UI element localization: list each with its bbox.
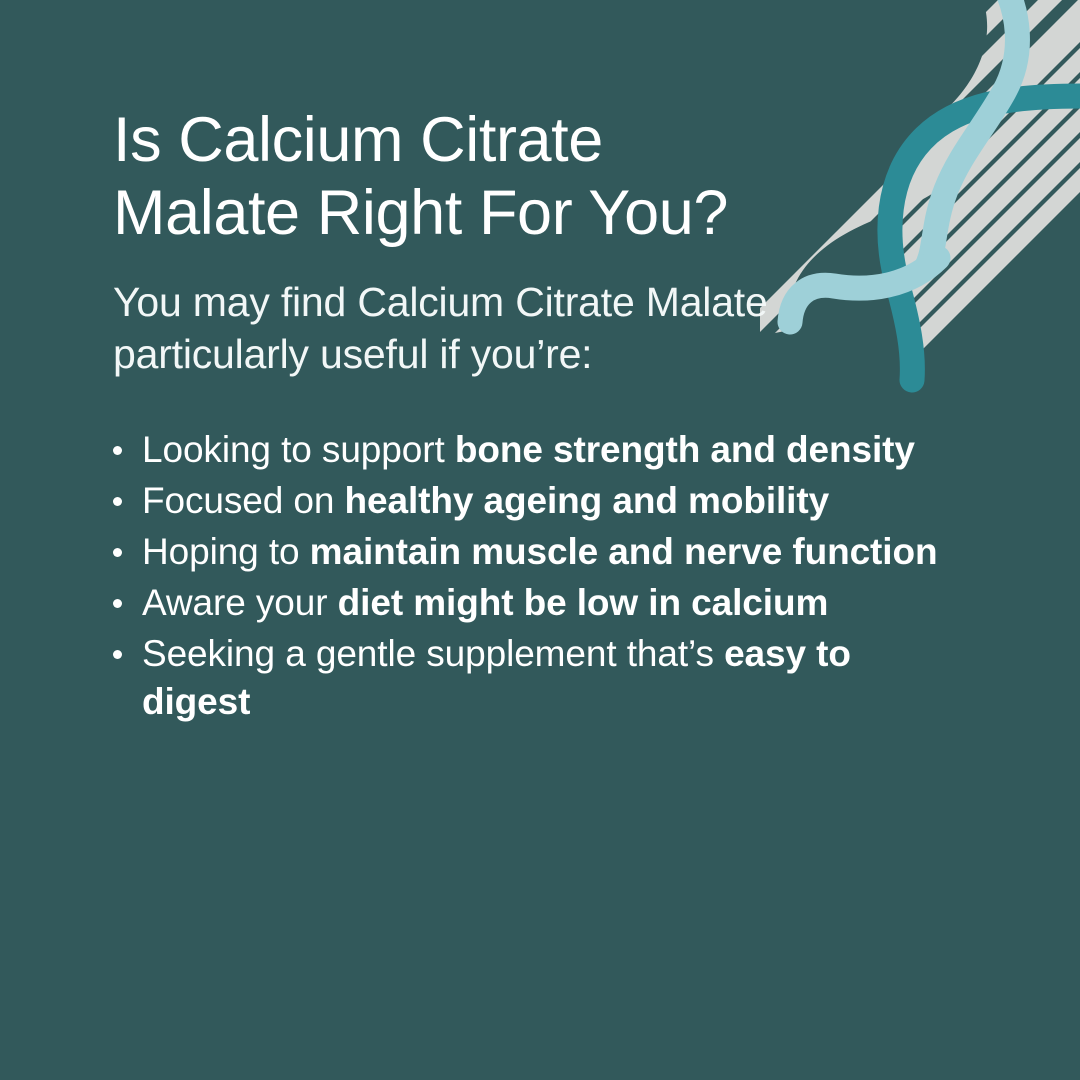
benefit-emphasis: healthy ageing and mobility: [345, 480, 830, 521]
benefit-emphasis: diet might be low in calcium: [338, 582, 829, 623]
page-title: Is Calcium Citrate Malate Right For You?: [113, 104, 753, 250]
list-item: Aware your diet might be low in calcium: [113, 579, 953, 627]
list-item: Seeking a gentle supplement that’s easy …: [113, 630, 953, 726]
bullet-icon: [113, 548, 122, 557]
bullet-icon: [113, 497, 122, 506]
benefit-lead: Focused on: [142, 480, 345, 521]
list-item: Hoping to maintain muscle and nerve func…: [113, 528, 953, 576]
list-item: Focused on healthy ageing and mobility: [113, 477, 953, 525]
content-column: Is Calcium Citrate Malate Right For You?…: [113, 104, 973, 729]
list-item: Looking to support bone strength and den…: [113, 426, 953, 474]
poster-canvas: Is Calcium Citrate Malate Right For You?…: [0, 0, 1080, 1080]
bullet-icon: [113, 650, 122, 659]
benefit-lead: Aware your: [142, 582, 338, 623]
benefit-lead: Seeking a gentle supplement that’s: [142, 633, 724, 674]
benefit-lead: Hoping to: [142, 531, 310, 572]
benefits-list: Looking to support bone strength and den…: [113, 426, 953, 726]
benefit-emphasis: maintain muscle and nerve function: [310, 531, 938, 572]
benefit-lead: Looking to support: [142, 429, 455, 470]
benefit-emphasis: bone strength and density: [455, 429, 915, 470]
bullet-icon: [113, 599, 122, 608]
subheading-text: You may find Calcium Citrate Malate part…: [113, 276, 913, 380]
bullet-icon: [113, 446, 122, 455]
